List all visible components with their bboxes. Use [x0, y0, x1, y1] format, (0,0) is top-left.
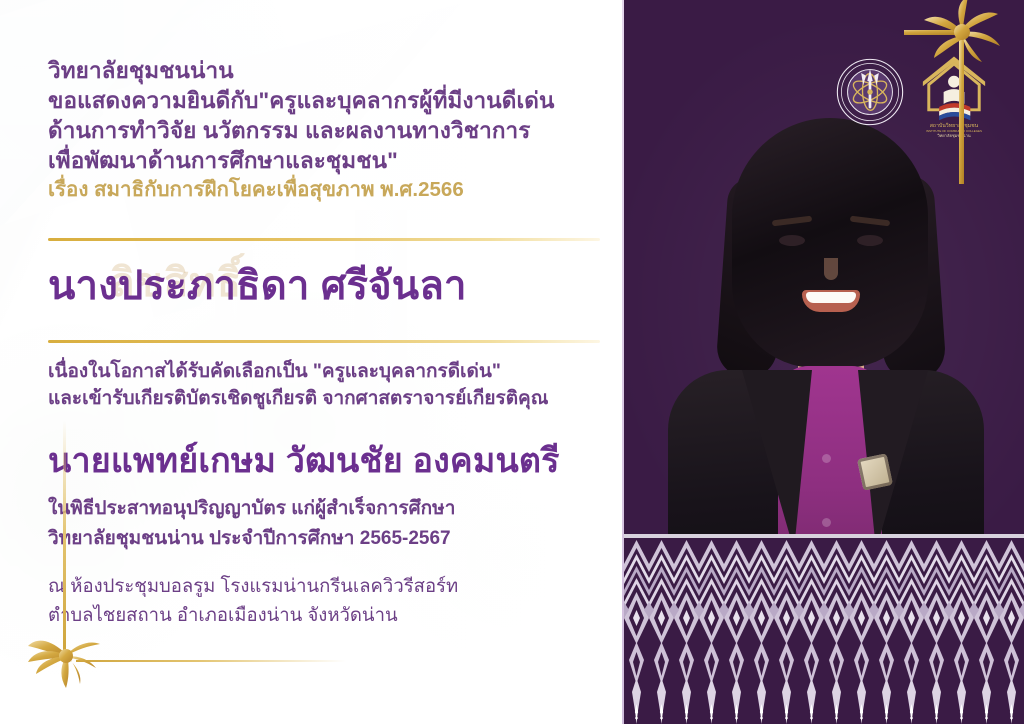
- portrait-shirt-button-1: [822, 454, 831, 463]
- royal-seal-icon: [836, 58, 904, 126]
- portrait-teeth: [806, 292, 856, 303]
- right-portrait-panel: สถาบันวิทยาลัยชุมชน INSTITUTE OF COMMUNI…: [624, 0, 1024, 724]
- topic-line: เรื่อง สมาธิกับการฝึกโยคะเพื่อสุขภาพ พ.ศ…: [48, 176, 464, 204]
- header-line-2: ขอแสดงความยินดีกับ"ครูและบุคลากรผู้ที่มี…: [48, 86, 554, 116]
- lotus-flourish-icon: [18, 608, 128, 698]
- panel-divider-seam: [622, 0, 624, 724]
- gold-corner-ornament-top-right: [904, 0, 1014, 184]
- portrait-mouth: [802, 290, 860, 312]
- header-line-1: วิทยาลัยชุมชนน่าน: [48, 56, 234, 86]
- gold-divider-middle: [48, 340, 600, 343]
- congratulation-card: ลิขสิทธิ์ วิทยาลัยชุมชนน่าน ขอแสดงความยิ…: [0, 0, 1024, 724]
- gold-divider-top: [48, 238, 600, 241]
- portrait-lapel-pin: [857, 453, 893, 491]
- thai-textile-pattern: [624, 534, 1024, 724]
- gold-corner-ornament-bottom-left: [18, 406, 348, 706]
- portrait-nose: [824, 258, 838, 280]
- portrait-eye-left: [779, 235, 805, 246]
- honoree-name: นางประภาธิดา ศรีจันลา: [48, 262, 467, 310]
- portrait-shirt-button-2: [822, 518, 831, 527]
- header-line-4: เพื่อพัฒนาด้านการศึกษาและชุมชน": [48, 146, 398, 176]
- portrait-eye-right: [857, 235, 883, 246]
- portrait-lapel-left: [742, 370, 812, 550]
- citation-line-1: เนื่องในโอกาสได้รับคัดเลือกเป็น "ครูและบ…: [48, 358, 501, 385]
- header-line-3: ด้านการทำวิจัย นวัตกรรม และผลงานทางวิชาก…: [48, 116, 530, 146]
- portrait-hair-top: [732, 118, 928, 368]
